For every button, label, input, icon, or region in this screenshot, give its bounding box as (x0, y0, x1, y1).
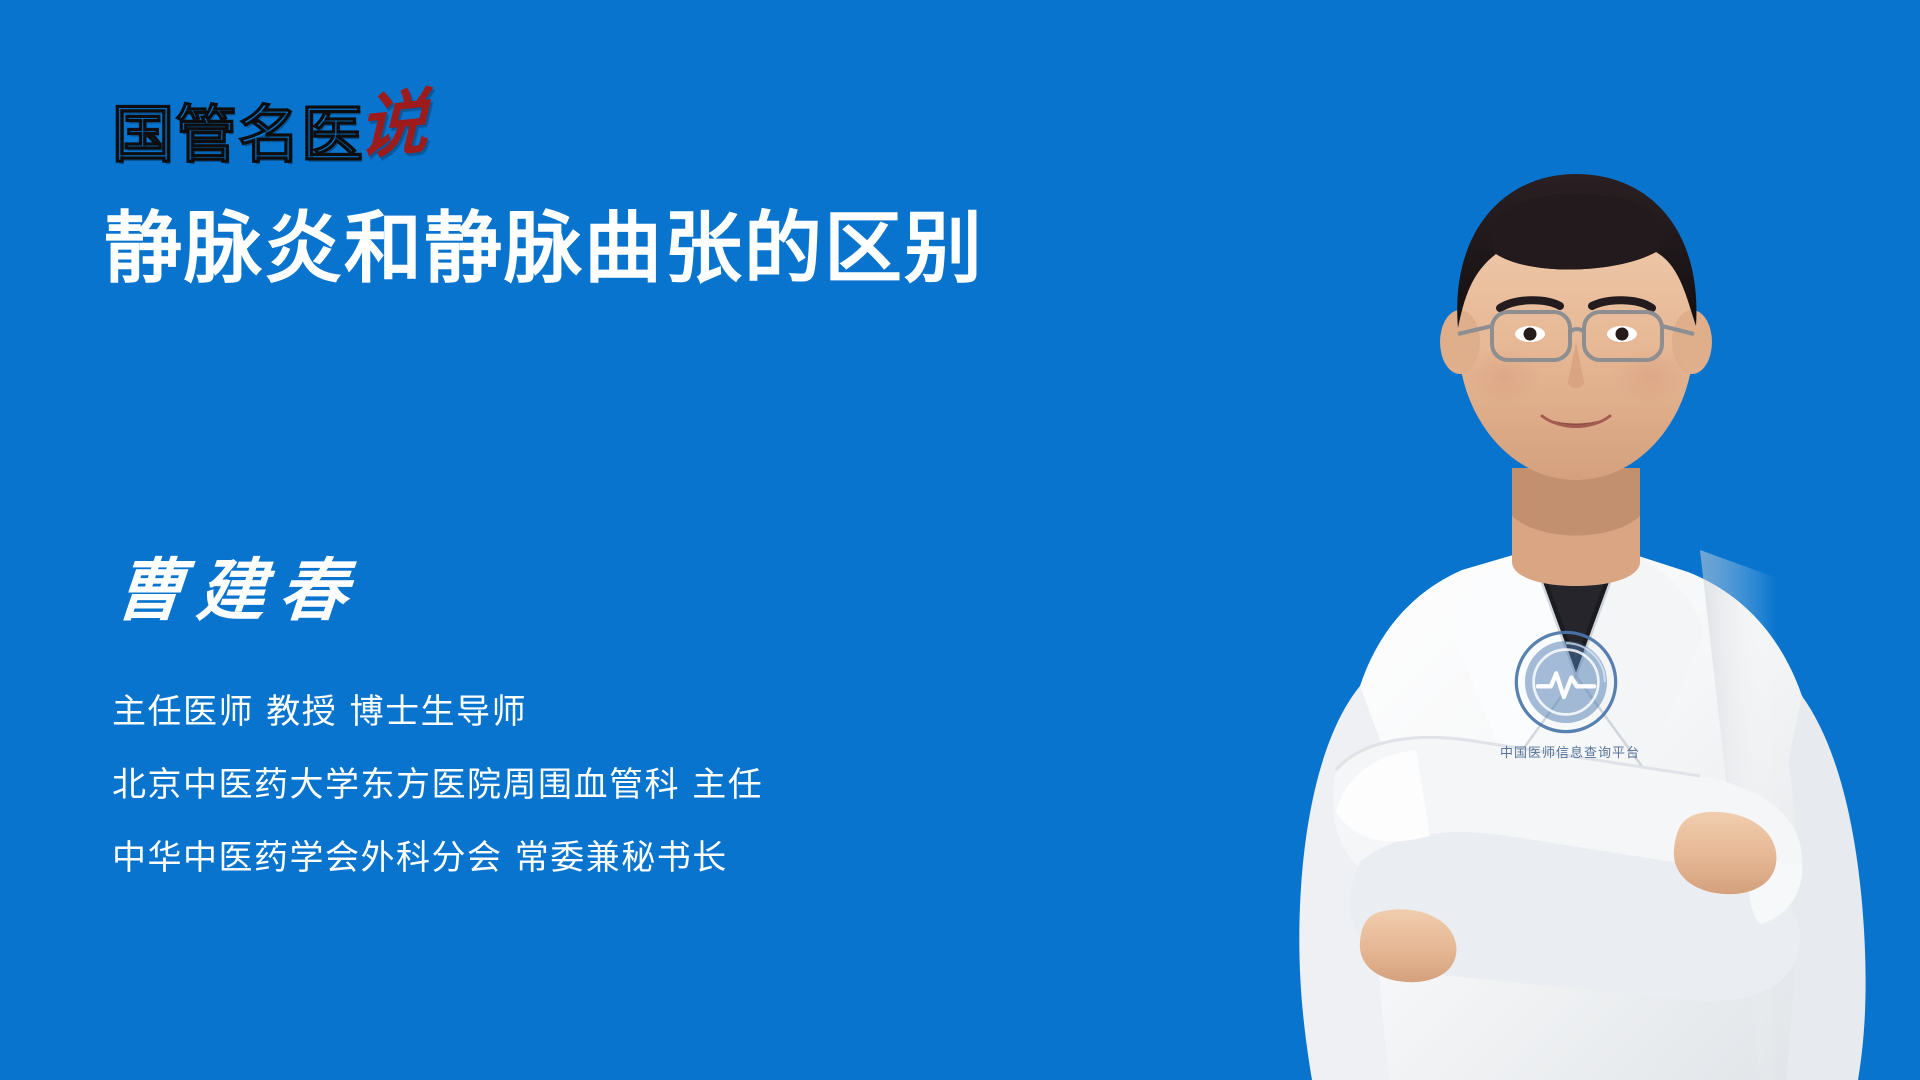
credential-line-1: 主任医师 教授 博士生导师 (112, 692, 763, 733)
neck (1512, 468, 1640, 586)
page-title: 静脉炎和静脉曲张的区别 (104, 206, 1104, 293)
brand-logo: 国管名医 说 (112, 88, 428, 166)
medical-platform-emblem-icon (1512, 628, 1620, 736)
badge-caption: 中国医师信息查询平台 (1480, 742, 1660, 761)
credential-line-2: 北京中医药大学东方医院周围血管科 主任 (112, 765, 763, 806)
title-card: 中国医师信息查询平台 国管名医 说 静脉炎和静脉曲张的区别 曹建春 主任医师 教… (0, 0, 1920, 1080)
presenter-portrait (1060, 70, 1920, 1080)
presenter-credentials: 主任医师 教授 博士生导师 北京中医药大学东方医院周围血管科 主任 中华中医药学… (112, 692, 763, 878)
credential-line-3: 中华中医药学会外科分会 常委兼秘书长 (112, 838, 763, 879)
presenter-name: 曹建春 (112, 552, 365, 630)
brand-logo-main-text: 国管名医 (112, 104, 364, 166)
brand-logo-accent-text: 说 (358, 86, 428, 164)
